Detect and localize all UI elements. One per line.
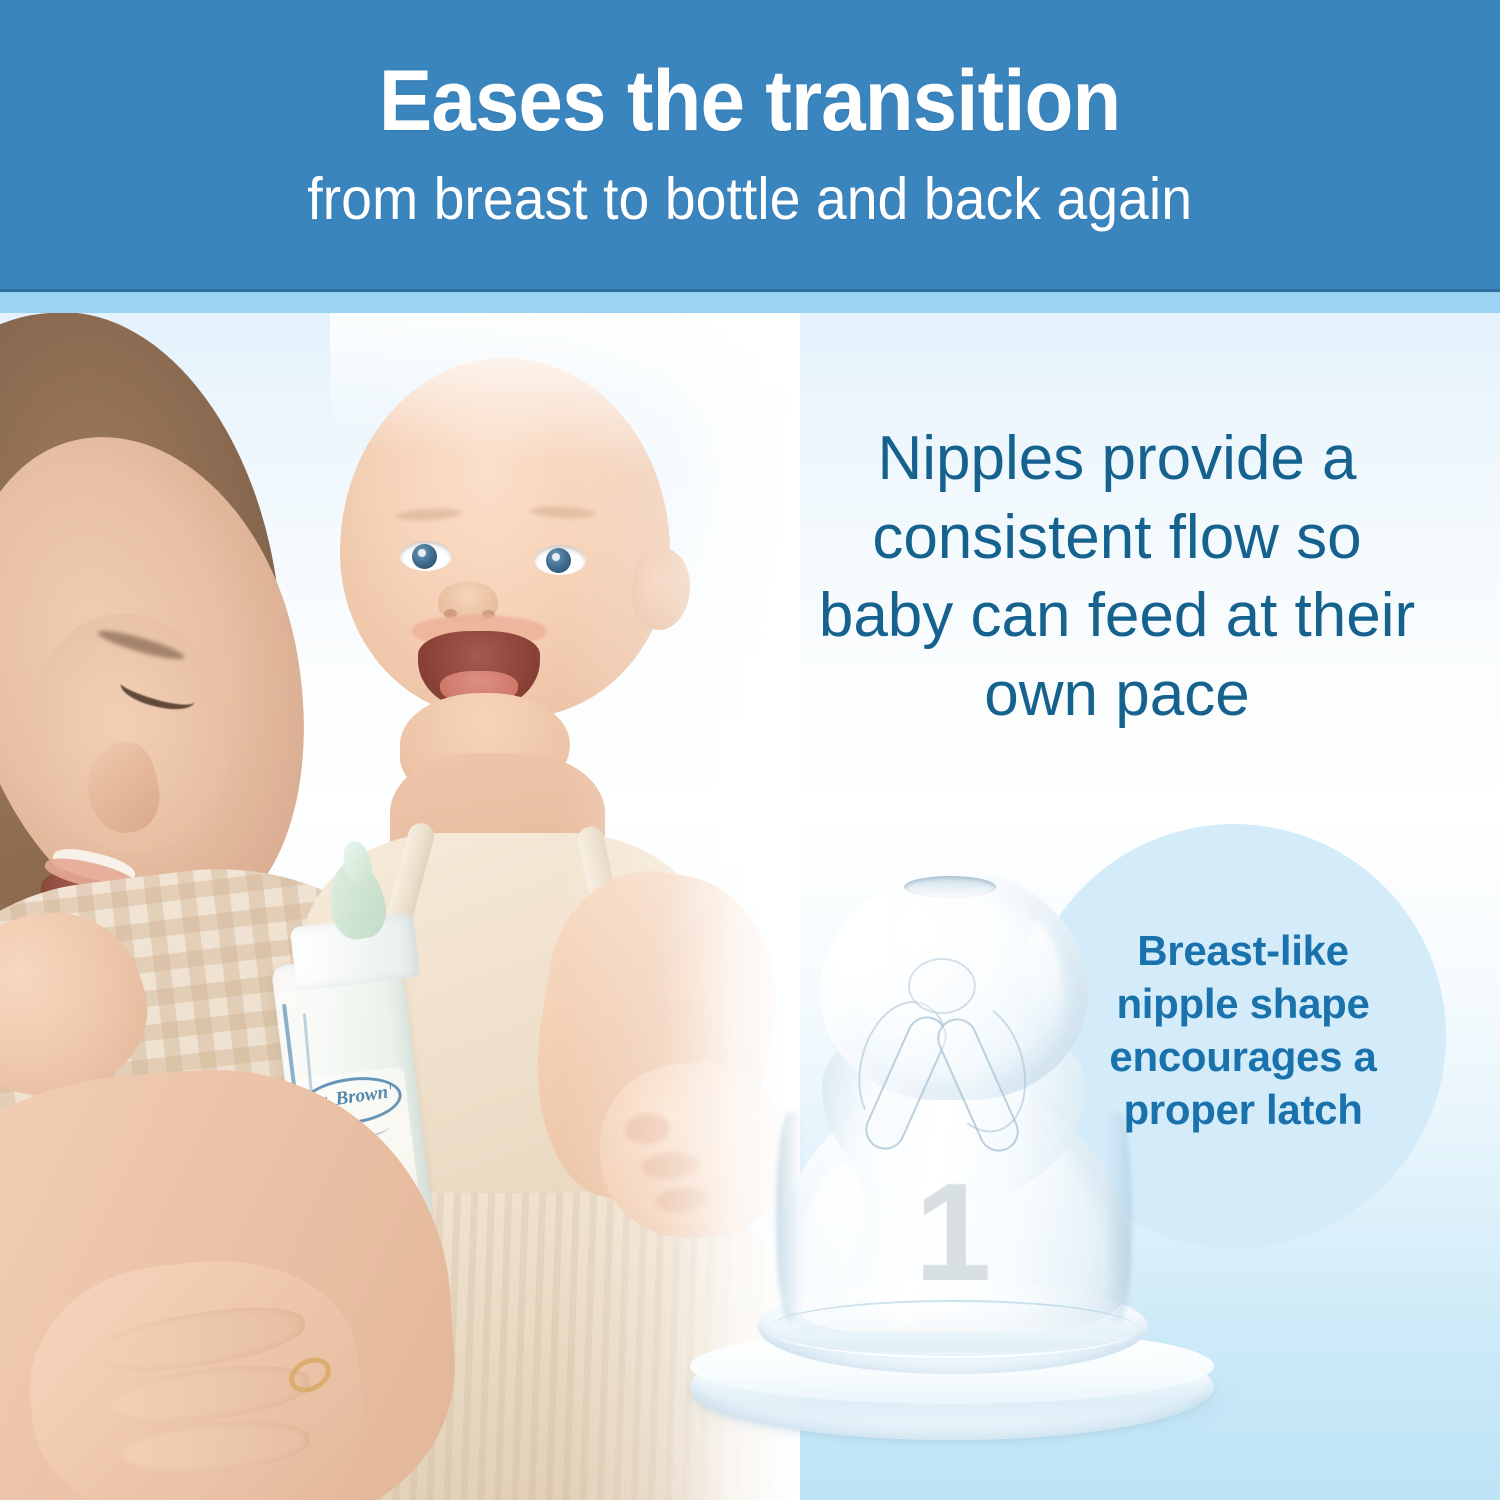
nipple-vent-loop-top	[908, 958, 976, 1014]
header-title: Eases the transition	[379, 58, 1120, 144]
baby-eye-left	[400, 541, 452, 571]
nipple-edge-shade-right	[1106, 1112, 1132, 1322]
callout-badge-text: Breast-like nipple shape encourages a pr…	[1078, 925, 1408, 1137]
header-subtitle: from breast to bottle and back again	[308, 170, 1193, 229]
nipple-edge-shade-left	[776, 1112, 802, 1322]
nipple-tip-opening	[904, 876, 996, 898]
header-banner: Eases the transition from breast to bott…	[0, 0, 1500, 289]
baby-eye-right	[534, 545, 586, 575]
nipple-flow-level-number: 1	[868, 1164, 1038, 1302]
product-feature-image: Eases the transition from breast to bott…	[0, 0, 1500, 1500]
header-accent-strip	[0, 292, 1500, 313]
feature-description-text: Nipples provide a consistent flow so bab…	[812, 420, 1422, 735]
